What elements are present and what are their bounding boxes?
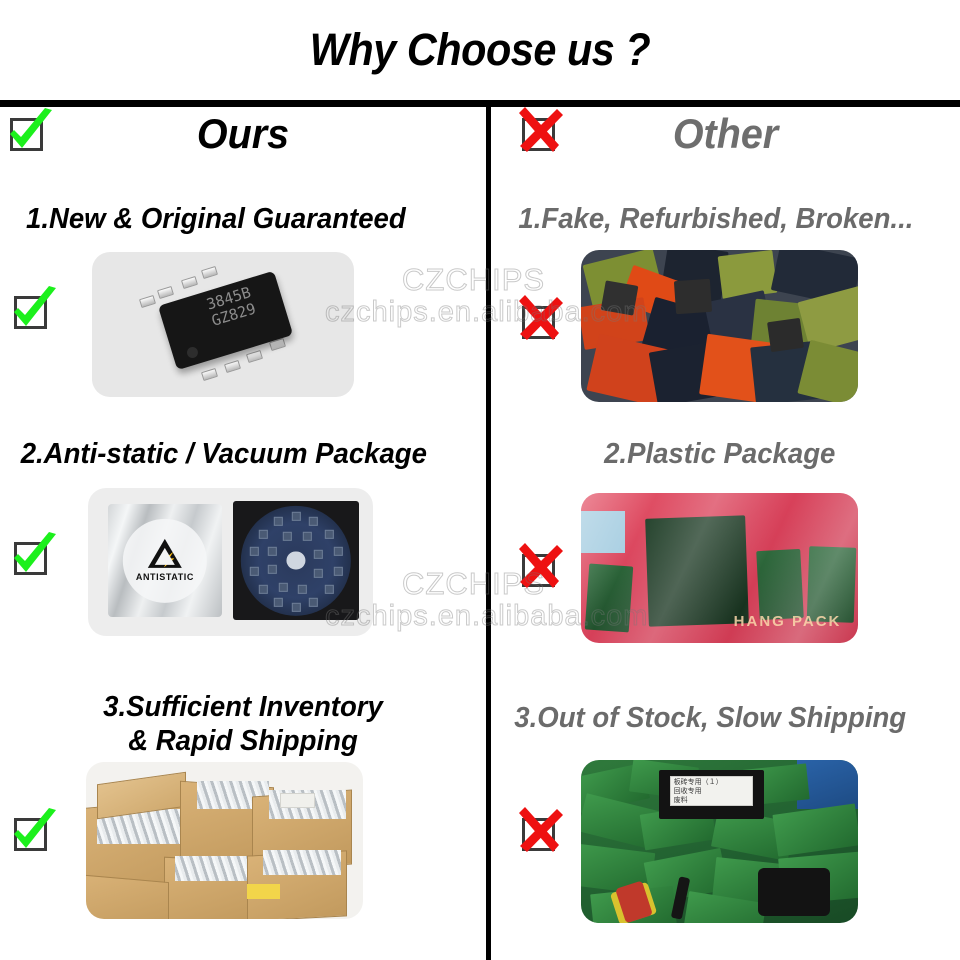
- chip-pin: [224, 360, 241, 373]
- pcb-board-small: [807, 546, 857, 623]
- check-mark-icon-header-ours: [6, 112, 50, 156]
- chip-pin: [157, 286, 174, 299]
- reel-pocket: [314, 569, 323, 578]
- scrap-fragment: [717, 250, 777, 299]
- module-label: 板砖专用（１） 回收专用 废料: [670, 776, 753, 805]
- antistatic-bags-stack: [263, 850, 341, 875]
- cross-glyph: [513, 104, 569, 160]
- why-choose-us-comparison-graphic: Why Choose us ? Ours Other 1.New & Origi…: [0, 0, 960, 960]
- black-device: [758, 868, 830, 917]
- antistatic-label-text: ANTISTATIC: [136, 572, 194, 582]
- green-scrap-content: 板砖专用（１） 回收专用 废料: [581, 760, 858, 923]
- pcb-board-small: [584, 564, 633, 633]
- cross-glyph: [513, 540, 569, 596]
- row-2-other-caption: 2.Plastic Package: [604, 438, 835, 471]
- lightning-bolt-icon: ⚡: [161, 553, 177, 566]
- reel-pocket: [267, 565, 276, 574]
- reel-pocket: [278, 583, 287, 592]
- photo-new-original-chip: 3845B GZ829: [92, 252, 354, 397]
- reel-pocket: [250, 547, 259, 556]
- reel-pocket: [259, 585, 268, 594]
- photo-antistatic-vacuum-package: ⚡ ANTISTATIC: [88, 488, 373, 636]
- antistatic-bag: ⚡ ANTISTATIC: [108, 504, 222, 616]
- reel-pocket: [314, 549, 323, 558]
- reel-disc: [241, 505, 351, 615]
- reel-hub: [287, 551, 306, 570]
- chip-pin: [181, 276, 198, 289]
- vertical-divider: [486, 104, 491, 960]
- cross-mark-icon-row-2: [518, 548, 562, 592]
- check-glyph: [5, 804, 61, 860]
- page-title: Why Choose us ?: [310, 24, 650, 76]
- photo-plastic-package: HANG PACK: [581, 493, 858, 643]
- chip-package-body: [158, 271, 293, 370]
- chip-pin: [201, 368, 218, 381]
- check-mark-icon-row-1: [10, 290, 54, 334]
- antistatic-photo-content: ⚡ ANTISTATIC: [88, 488, 373, 636]
- reel-pocket: [274, 598, 283, 607]
- check-glyph: [5, 282, 61, 338]
- check-glyph: [5, 528, 61, 584]
- plastic-bag-print: HANG PACK: [734, 613, 842, 630]
- cross-glyph: [513, 804, 569, 860]
- row-2-ours-caption: 2.Anti-static / Vacuum Package: [21, 438, 427, 471]
- component-reel: [233, 501, 358, 619]
- module-label-line-2: 回收专用: [674, 788, 749, 797]
- check-mark-icon-row-3: [10, 812, 54, 856]
- row-3-other-caption: 3.Out of Stock, Slow Shipping: [514, 702, 906, 735]
- photo-fake-broken-chips: [581, 250, 858, 402]
- row-3-ours-caption-line-2: & Rapid Shipping: [48, 724, 438, 758]
- reel-pocket: [274, 516, 283, 525]
- reel-pocket: [309, 598, 318, 607]
- chip-pin: [246, 350, 263, 363]
- inventory-boxes-content: [86, 762, 363, 919]
- column-header-other-label: Other: [505, 110, 946, 158]
- check-glyph: [1, 104, 57, 160]
- reel-pocket: [325, 530, 334, 539]
- reel-pocket: [283, 532, 292, 541]
- row-3-ours-caption-line-1: 3.Sufficient Inventory: [48, 690, 438, 724]
- scrap-chips-content: [581, 250, 858, 402]
- yellow-tape: [247, 884, 280, 898]
- reel-pocket: [334, 547, 343, 556]
- page-title-bar: Why Choose us ?: [0, 0, 960, 100]
- carton-box: [86, 874, 169, 919]
- check-mark-icon-row-2: [10, 536, 54, 580]
- reel-pocket: [309, 516, 318, 525]
- cross-mark-icon-row-3: [518, 812, 562, 856]
- pcb-board-small: [756, 549, 804, 620]
- chip-pin: [201, 266, 218, 279]
- reel-pocket: [298, 585, 307, 594]
- pcb-board-large: [646, 515, 749, 626]
- reel-pocket: [267, 547, 276, 556]
- chip-photo-content: 3845B GZ829: [92, 252, 354, 397]
- photo-out-of-stock-scrap: 板砖专用（１） 回收专用 废料: [581, 760, 858, 923]
- antistatic-bags-stack: [175, 856, 247, 881]
- module-label-line-1: 板砖专用（１）: [674, 779, 749, 788]
- plastic-package-content: HANG PACK: [581, 493, 858, 643]
- column-header-ours-label: Ours: [15, 110, 472, 158]
- column-header-ours: Ours: [0, 104, 486, 182]
- row-3-ours-caption: 3.Sufficient Inventory & Rapid Shipping: [48, 690, 438, 758]
- reel-pocket: [292, 602, 301, 611]
- esd-warning-icon: ⚡: [148, 539, 182, 568]
- pcb-shard: [772, 803, 858, 857]
- reel-pocket: [250, 567, 259, 576]
- module-label-line-3: 废料: [674, 797, 749, 806]
- scrap-die: [767, 318, 804, 353]
- antistatic-label: ⚡ ANTISTATIC: [123, 518, 207, 602]
- row-1-ours-caption: 1.New & Original Guaranteed: [26, 203, 406, 236]
- cross-mark-icon-header-other: [518, 112, 562, 156]
- chip-pin: [139, 295, 156, 308]
- reel-pocket: [303, 532, 312, 541]
- reel-pocket: [292, 512, 301, 521]
- reel-pocket: [325, 585, 334, 594]
- scrap-die: [674, 279, 712, 315]
- row-1-other-caption: 1.Fake, Refurbished, Broken...: [518, 203, 913, 236]
- bag-highlight: [581, 511, 625, 553]
- reel-pocket: [259, 530, 268, 539]
- photo-inventory-boxes: [86, 762, 363, 919]
- cross-glyph: [513, 292, 569, 348]
- cross-mark-icon-row-1: [518, 300, 562, 344]
- shipping-label: [280, 793, 315, 808]
- reel-pocket: [334, 567, 343, 576]
